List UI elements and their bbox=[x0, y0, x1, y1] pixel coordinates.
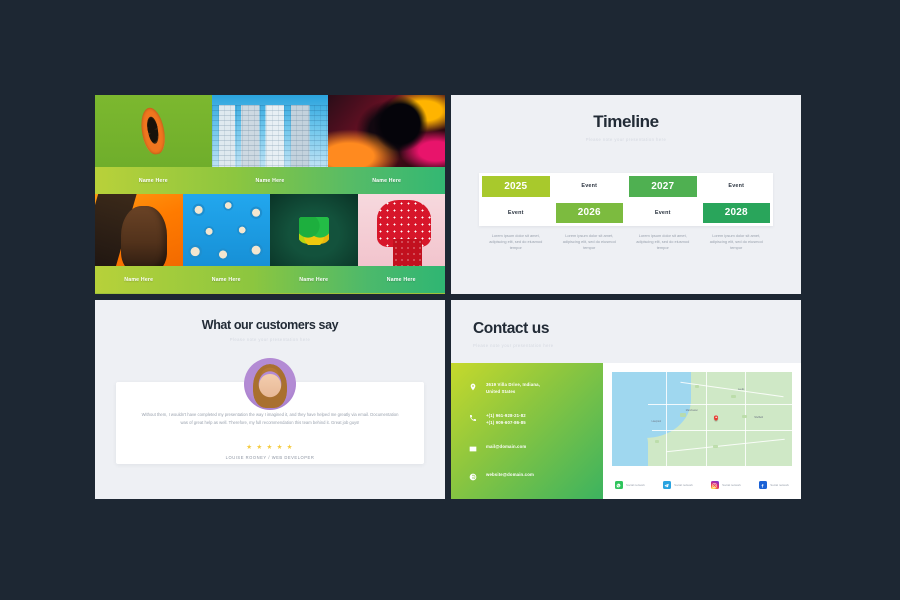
map-marker-pin[interactable] bbox=[714, 415, 718, 421]
timeline-cell[interactable]: 2025 bbox=[479, 173, 553, 200]
timeline-description: Lorem ipsum dolor sit amet, adipiscing e… bbox=[553, 233, 627, 251]
location-pin-icon bbox=[467, 381, 478, 392]
gallery-caption-band-bottom: Name Here Name Here Name Here Name Here bbox=[95, 266, 445, 293]
page-title: Contact us bbox=[473, 320, 801, 338]
timeline-descriptions: Lorem ipsum dolor sit amet, adipiscing e… bbox=[479, 233, 773, 251]
map-label: Leeds bbox=[738, 389, 744, 391]
timeline-cell[interactable]: 2027 bbox=[626, 173, 700, 200]
timeline-description: Lorem ipsum dolor sit amet, adipiscing e… bbox=[479, 233, 553, 251]
contact-subtitle: Please note your presentation here bbox=[473, 343, 801, 348]
contact-phone-line1: +(1) 961-928-21-82 bbox=[486, 413, 526, 418]
timeline-year-chip: 2026 bbox=[556, 203, 624, 224]
contact-email-text: mail@domain.com bbox=[486, 443, 526, 450]
contact-map-area: Manchester Sheffield Liverpool Leeds Soc… bbox=[603, 363, 801, 499]
star-rating: ★ ★ ★ ★ ★ bbox=[116, 443, 424, 451]
social-links: Social network Social network Social net… bbox=[612, 479, 792, 491]
map-label: Liverpool bbox=[652, 421, 661, 423]
contact-body: 3619 Villa Drive, Indiana, United States… bbox=[451, 363, 801, 499]
testimonial-panel: What our customers say Please note your … bbox=[95, 300, 445, 499]
timeline-event-label: Event bbox=[581, 183, 597, 189]
slide-deck-preview: Name Here Name Here Name Here Name Here … bbox=[95, 95, 805, 499]
page-title: Timeline bbox=[451, 112, 801, 132]
social-link-telegram[interactable]: Social network bbox=[663, 481, 693, 489]
timeline-card: 2025 Event 2027 Event Event 2026 Event 2… bbox=[479, 173, 773, 226]
contact-phone-line2: +(1) 909-607-86-85 bbox=[486, 420, 526, 425]
gallery-row-bottom-images bbox=[95, 194, 445, 266]
testimonial-quote: Without them, I wouldn't have completed … bbox=[140, 411, 400, 427]
testimonial-header: What our customers say Please note your … bbox=[95, 300, 445, 342]
contact-item-website[interactable]: website@domain.com bbox=[467, 471, 603, 482]
whatsapp-icon bbox=[615, 481, 623, 489]
social-label: Social network bbox=[674, 483, 693, 487]
social-label: Social network bbox=[722, 483, 741, 487]
gallery-panel: Name Here Name Here Name Here Name Here … bbox=[95, 95, 445, 294]
timeline-cell[interactable]: 2026 bbox=[553, 200, 627, 227]
map-label: Sheffield bbox=[754, 417, 763, 419]
timeline-header: Timeline Please note your presentation h… bbox=[451, 95, 801, 142]
contact-phone-text: +(1) 961-928-21-82 +(1) 909-607-86-85 bbox=[486, 412, 526, 426]
testimonial-subtitle: Please note your presentation here bbox=[95, 337, 445, 342]
gallery-name-label: Name Here bbox=[183, 277, 271, 283]
gallery-name-label: Name Here bbox=[95, 178, 212, 184]
instagram-icon bbox=[711, 481, 719, 489]
timeline-year-chip: 2028 bbox=[703, 203, 771, 224]
globe-icon bbox=[467, 471, 478, 482]
gallery-image-papaya[interactable] bbox=[95, 95, 212, 167]
contact-panel: Contact us Please note your presentation… bbox=[451, 300, 801, 499]
timeline-panel: Timeline Please note your presentation h… bbox=[451, 95, 801, 294]
social-link-whatsapp[interactable]: Social network bbox=[615, 481, 645, 489]
social-label: Social network bbox=[770, 483, 789, 487]
timeline-event-label: Event bbox=[728, 183, 744, 189]
timeline-event-label: Event bbox=[508, 210, 524, 216]
gallery-row-top-images bbox=[95, 95, 445, 167]
timeline-cell[interactable]: 2028 bbox=[700, 200, 774, 227]
phone-icon bbox=[467, 412, 478, 423]
contact-item-address[interactable]: 3619 Villa Drive, Indiana, United States bbox=[467, 381, 603, 395]
map-label: Manchester bbox=[686, 410, 698, 412]
testimonial-author: LOUISE ROONEY / WEB DEVELOPER bbox=[116, 455, 424, 460]
gallery-image-man-portrait[interactable] bbox=[95, 194, 183, 266]
gallery-name-label: Name Here bbox=[212, 178, 329, 184]
avatar bbox=[244, 358, 296, 410]
gallery-image-clover[interactable] bbox=[270, 194, 358, 266]
contact-header: Contact us Please note your presentation… bbox=[451, 300, 801, 348]
facebook-icon bbox=[759, 481, 767, 489]
timeline-year-chip: 2025 bbox=[482, 176, 550, 197]
gallery-image-abstract[interactable] bbox=[328, 95, 445, 167]
timeline-cell[interactable]: Event bbox=[553, 173, 627, 200]
gallery-image-buildings[interactable] bbox=[212, 95, 329, 167]
timeline-description: Lorem ipsum dolor sit amet, adipiscing e… bbox=[700, 233, 774, 251]
contact-details-list: 3619 Villa Drive, Indiana, United States… bbox=[451, 363, 603, 499]
timeline-cell[interactable]: Event bbox=[626, 200, 700, 227]
gallery-caption-band-top: Name Here Name Here Name Here bbox=[95, 167, 445, 194]
timeline-description: Lorem ipsum dolor sit amet, adipiscing e… bbox=[626, 233, 700, 251]
timeline-cell[interactable]: Event bbox=[479, 200, 553, 227]
gallery-name-label: Name Here bbox=[358, 277, 446, 283]
gallery-image-coffee-cups[interactable] bbox=[183, 194, 271, 266]
contact-item-email[interactable]: mail@domain.com bbox=[467, 443, 603, 454]
timeline-subtitle: Please note your presentation here bbox=[451, 137, 801, 142]
mail-icon bbox=[467, 443, 478, 454]
contact-address-text: 3619 Villa Drive, Indiana, United States bbox=[486, 381, 540, 395]
timeline-event-label: Event bbox=[655, 210, 671, 216]
social-link-instagram[interactable]: Social network bbox=[711, 481, 741, 489]
location-map[interactable]: Manchester Sheffield Liverpool Leeds bbox=[612, 372, 792, 466]
contact-address-line1: 3619 Villa Drive, Indiana, bbox=[486, 382, 540, 387]
social-link-facebook[interactable]: Social network bbox=[759, 481, 789, 489]
contact-item-phone[interactable]: +(1) 961-928-21-82 +(1) 909-607-86-85 bbox=[467, 412, 603, 426]
gallery-name-label: Name Here bbox=[328, 178, 445, 184]
contact-website-text: website@domain.com bbox=[486, 471, 534, 478]
gallery-name-label: Name Here bbox=[270, 277, 358, 283]
map-roads bbox=[612, 372, 792, 466]
contact-address-line2: United States bbox=[486, 389, 515, 394]
gallery-name-label: Name Here bbox=[95, 277, 183, 283]
timeline-grid: 2025 Event 2027 Event Event 2026 Event 2… bbox=[479, 173, 773, 226]
social-label: Social network bbox=[626, 483, 645, 487]
gallery-image-polka-dress[interactable] bbox=[358, 194, 446, 266]
timeline-cell[interactable]: Event bbox=[700, 173, 774, 200]
page-title: What our customers say bbox=[95, 318, 445, 332]
telegram-icon bbox=[663, 481, 671, 489]
timeline-year-chip: 2027 bbox=[629, 176, 697, 197]
